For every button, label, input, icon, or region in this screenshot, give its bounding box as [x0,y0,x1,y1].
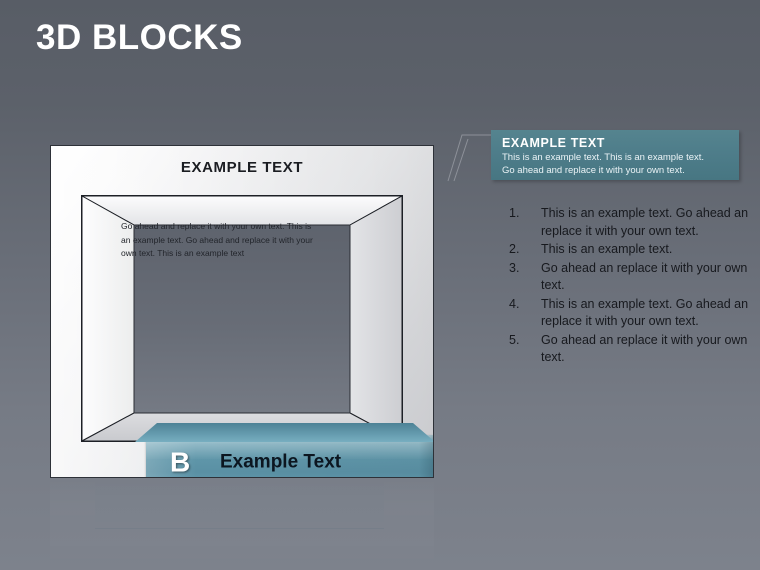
diagram-panel[interactable]: EXAMPLE TEXT [50,145,434,478]
block-b-letter: B [170,446,190,478]
list-item[interactable]: 3. Go ahead an replace it with your own … [509,260,754,295]
list-item-text: Go ahead an replace it with your own tex… [541,260,754,295]
wall-paragraph: Go ahead and replace it with your own te… [121,220,321,261]
callout-box[interactable]: EXAMPLE TEXT This is an example text. Th… [491,130,739,180]
list-item-text: This is an example text. Go ahead an rep… [541,205,754,240]
slide-canvas: 3D BLOCKS EXAMPLE TEXT [0,0,760,570]
list-item-number: 1. [509,205,541,223]
list-item[interactable]: 4. This is an example text. Go ahead an … [509,296,754,331]
callout-line-2: Go ahead and replace it with your own te… [502,165,731,178]
list-item-number: 2. [509,241,541,259]
list-item-number: 4. [509,296,541,314]
list-item-number: 5. [509,332,541,350]
panel-title: EXAMPLE TEXT [51,159,433,176]
numbered-list: 1. This is an example text. Go ahead an … [509,205,754,368]
list-item-text: This is an example text. Go ahead an rep… [541,296,754,331]
block-b-label: Example Text [220,452,341,474]
list-item[interactable]: 5. Go ahead an replace it with your own … [509,332,754,367]
panel-reflection [50,479,434,565]
page-title: 3D BLOCKS [36,18,243,58]
callout-line-1: This is an example text. This is an exam… [502,152,731,165]
list-item[interactable]: 1. This is an example text. Go ahead an … [509,205,754,240]
list-item[interactable]: 2. This is an example text. [509,241,754,259]
list-item-text: This is an example text. [541,241,754,259]
callout-title: EXAMPLE TEXT [502,136,731,150]
block-top-face [135,423,434,443]
list-item-number: 3. [509,260,541,278]
list-item-text: Go ahead an replace it with your own tex… [541,332,754,367]
reflection-block [95,479,384,529]
